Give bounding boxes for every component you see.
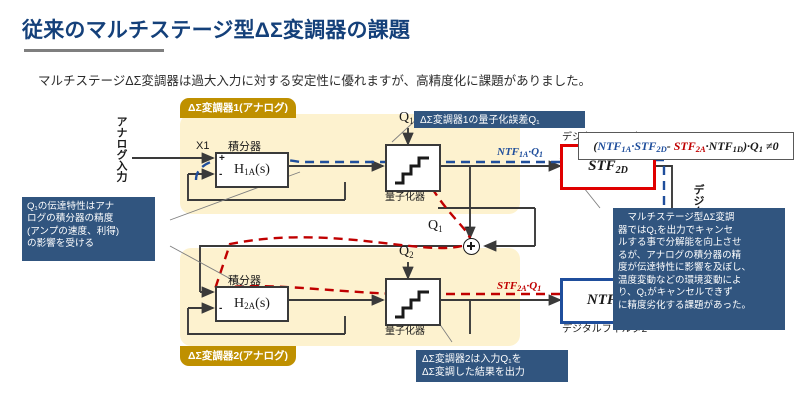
integrator1-plus: +	[219, 153, 225, 164]
digital-filter1-name: STF2D	[588, 158, 628, 176]
page-title: 従来のマルチステージ型ΔΣ変調器の課題	[22, 14, 410, 44]
quantizer2-caption: 量子化器	[385, 322, 425, 337]
mid-node-minus: -	[466, 222, 469, 233]
quantizer1-staircase-icon	[387, 146, 439, 190]
callout-right-line-1: マルチステージ型ΔΣ変調	[618, 212, 780, 225]
quantizer2-staircase-icon	[387, 280, 439, 324]
quantizer2-block	[385, 278, 441, 326]
quantizer1-block	[385, 144, 441, 192]
callout-left-line-1: Q₁の伝達特性はアナ	[27, 201, 150, 213]
formula-expression: (NTF1A·STF2D- STF2A·NTF1D)·Q1 ≠0	[593, 139, 778, 154]
input-signal-label: X1	[196, 140, 209, 152]
callout-bottom-line-2: ΔΣ変調した結果を出力	[422, 366, 562, 379]
integrator2-transfer: H2A(s)	[234, 296, 270, 312]
noise-q1-label: Q1	[399, 110, 414, 126]
mid-summing-node	[463, 238, 480, 255]
callout-right-line-3: ルする事で分解能を向上させ	[618, 237, 780, 250]
callout-bottom-line-1: ΔΣ変調器2は入力Q₁を	[422, 353, 562, 366]
callout-left: Q₁の伝達特性はアナ ログの積分器の精度 (アンプの速度、利得) の影響を受ける	[22, 197, 155, 261]
mid-node-q1-label: Q1	[428, 218, 443, 234]
slide-root: 従来のマルチステージ型ΔΣ変調器の課題 マルチステージΔΣ変調器は過大入力に対す…	[0, 0, 800, 400]
noise-q2-label: Q2	[399, 244, 414, 260]
callout-right-line-4: るが、アナログの積分器の精	[618, 250, 780, 263]
title-underline	[24, 49, 164, 52]
integrator1-minus: -	[219, 169, 222, 180]
analog-input-label: アナログ入力	[113, 116, 129, 182]
integrator2-minus: -	[219, 303, 222, 314]
callout-right-line-5: 度が伝達特性に影響を及ぼし、	[618, 262, 780, 275]
integrator1-transfer: H1A(s)	[234, 162, 270, 178]
callout-right-line-8: に精度劣化する課題があった。	[618, 300, 780, 313]
callout-right: マルチステージ型ΔΣ変調 器ではQ₁を出力でキャンセ ルする事で分解能を向上させ…	[613, 208, 785, 330]
callout-left-line-4: の影響を受ける	[27, 238, 150, 250]
integrator1-block: H1A(s)	[215, 152, 289, 188]
callout-left-line-2: ログの積分器の精度	[27, 213, 150, 225]
integrator2-block: H2A(s)	[215, 286, 289, 322]
page-subtitle: マルチステージΔΣ変調器は過大入力に対する安定性に優れますが、高精度化に課題があ…	[38, 70, 591, 89]
callout-right-line-6: 温度変動などの環境変動によ	[618, 275, 780, 288]
quantizer1-caption: 量子化器	[385, 188, 425, 203]
callout-right-line-7: り、Q₁がキャンセルできず	[618, 287, 780, 300]
callout-top: ΔΣ変調器1の量子化誤差Q₁	[414, 111, 585, 128]
callout-bottom: ΔΣ変調器2は入力Q₁を ΔΣ変調した結果を出力	[416, 350, 568, 382]
signal-ntf1a-q1-label: NTF1A·Q1	[497, 146, 543, 159]
callout-right-line-2: 器ではQ₁を出力でキャンセ	[618, 225, 780, 238]
signal-stf2a-q1-label: STF2A·Q1	[497, 280, 541, 293]
formula-box: (NTF1A·STF2D- STF2A·NTF1D)·Q1 ≠0	[578, 132, 794, 160]
callout-left-line-3: (アンプの速度、利得)	[27, 226, 150, 238]
callout-top-text: ΔΣ変調器1の量子化誤差Q₁	[420, 115, 540, 126]
